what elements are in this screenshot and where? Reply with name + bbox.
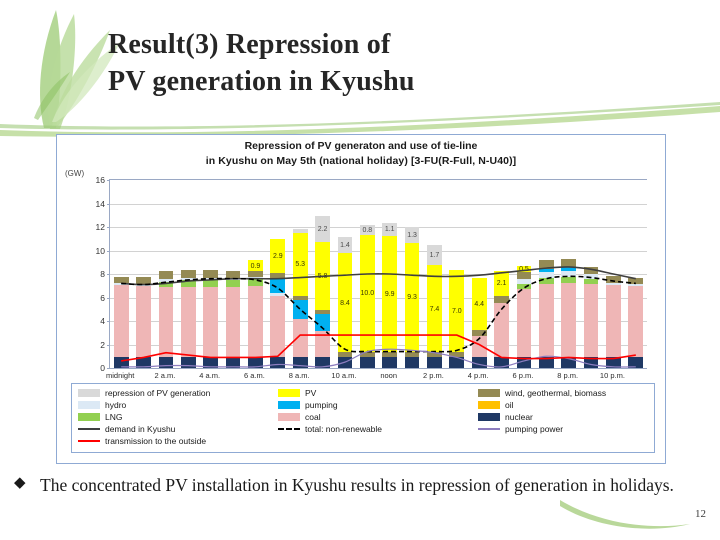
y-axis-tick-label: 4 xyxy=(100,316,105,326)
line-series-layer xyxy=(110,180,647,368)
legend-swatch xyxy=(278,428,300,430)
x-axis-tick-label: 10 p.m. xyxy=(600,371,625,380)
legend-empty-cell xyxy=(478,436,648,446)
legend-label: transmission to the outside xyxy=(105,436,206,446)
legend-swatch xyxy=(278,389,300,397)
y-axis-tick-label: 16 xyxy=(96,175,105,185)
legend-swatch xyxy=(478,428,500,430)
chart-title-line1: Repression of PV generaton and use of ti… xyxy=(57,139,665,154)
x-axis-tick-label: midnight xyxy=(106,371,134,380)
slide-title: Result(3) Repression of PV generation in… xyxy=(108,26,668,100)
y-axis-tick-label: 14 xyxy=(96,199,105,209)
x-axis-tick-label: 10 a.m. xyxy=(331,371,356,380)
legend-label: wind, geothermal, biomass xyxy=(505,388,606,398)
legend-item: total: non-renewable xyxy=(278,424,478,434)
legend-swatch xyxy=(78,440,100,442)
legend-label: pumping power xyxy=(505,424,563,434)
legend-item: coal xyxy=(278,412,478,422)
legend-swatch xyxy=(78,389,100,397)
x-axis-tick-label: 6 p.m. xyxy=(513,371,534,380)
line-series-total-non-renewable xyxy=(121,277,636,352)
legend-swatch xyxy=(478,401,500,409)
plot-canvas: 0246810121416 0.92.95.35.82.28.41.410.00… xyxy=(109,179,647,369)
legend-item: nuclear xyxy=(478,412,648,422)
legend-label: total: non-renewable xyxy=(305,424,382,434)
y-axis-tick-label: 12 xyxy=(96,222,105,232)
legend-swatch xyxy=(78,413,100,421)
legend-swatch xyxy=(478,413,500,421)
legend-label: PV xyxy=(305,388,316,398)
legend-item: transmission to the outside xyxy=(78,436,278,446)
legend-item: oil xyxy=(478,400,648,410)
legend-item: demand in Kyushu xyxy=(78,424,278,434)
chart-title-line2: in Kyushu on May 5th (national holiday) … xyxy=(57,154,665,169)
legend-item: hydro xyxy=(78,400,278,410)
x-axis-tick-label: 2 a.m. xyxy=(155,371,176,380)
summary-bullet-text: The concentrated PV installation in Kyus… xyxy=(40,474,674,496)
plot-area: (GW) 0246810121416 0.92.95.35.82.28.41.4… xyxy=(57,171,665,377)
y-axis-tick-label: 0 xyxy=(100,363,105,373)
summary-bullet: ◆ The concentrated PV installation in Ky… xyxy=(14,474,674,496)
y-axis-tick-label: 2 xyxy=(100,340,105,350)
x-axis-tick-label: 4 p.m. xyxy=(468,371,489,380)
y-axis-unit-label: (GW) xyxy=(65,169,84,178)
x-axis-tick-label: 6 a.m. xyxy=(244,371,265,380)
legend-label: pumping xyxy=(305,400,338,410)
legend-label: nuclear xyxy=(505,412,533,422)
legend-item: pumping power xyxy=(478,424,648,434)
y-axis-tick-label: 8 xyxy=(100,269,105,279)
chart-legend: repression of PV generationPVwind, geoth… xyxy=(71,383,655,453)
page-number: 12 xyxy=(695,508,706,520)
legend-item: LNG xyxy=(78,412,278,422)
legend-label: demand in Kyushu xyxy=(105,424,175,434)
x-axis-tick-label: 8 a.m. xyxy=(289,371,310,380)
y-axis-tick-label: 6 xyxy=(100,293,105,303)
legend-label: LNG xyxy=(105,412,122,422)
legend-label: repression of PV generation xyxy=(105,388,210,398)
x-axis-tick-label: 8 p.m. xyxy=(557,371,578,380)
legend-item: wind, geothermal, biomass xyxy=(478,388,648,398)
legend-swatch xyxy=(278,401,300,409)
line-series-demand-in-kyushu xyxy=(121,267,636,285)
y-axis-tick-mark xyxy=(107,368,110,369)
legend-label: coal xyxy=(305,412,321,422)
chart-title: Repression of PV generaton and use of ti… xyxy=(57,135,665,169)
legend-label: oil xyxy=(505,400,514,410)
chart-panel: Repression of PV generaton and use of ti… xyxy=(56,134,666,464)
y-axis-tick-label: 10 xyxy=(96,246,105,256)
legend-empty-cell xyxy=(278,436,478,446)
legend-swatch xyxy=(78,428,100,430)
x-axis-tick-label: 4 a.m. xyxy=(199,371,220,380)
bottom-swoosh-decoration-icon xyxy=(560,494,690,534)
x-axis-tick-label: 2 p.m. xyxy=(423,371,444,380)
legend-swatch xyxy=(278,413,300,421)
legend-label: hydro xyxy=(105,400,126,410)
slide-title-line2: PV generation in Kyushu xyxy=(108,63,668,100)
slide-title-line1: Result(3) Repression of xyxy=(108,26,668,63)
bullet-diamond-icon: ◆ xyxy=(14,474,26,493)
legend-item: repression of PV generation xyxy=(78,388,278,398)
legend-item: PV xyxy=(278,388,478,398)
legend-swatch xyxy=(478,389,500,397)
legend-swatch xyxy=(78,401,100,409)
x-axis-tick-label: noon xyxy=(380,371,397,380)
legend-item: pumping xyxy=(278,400,478,410)
